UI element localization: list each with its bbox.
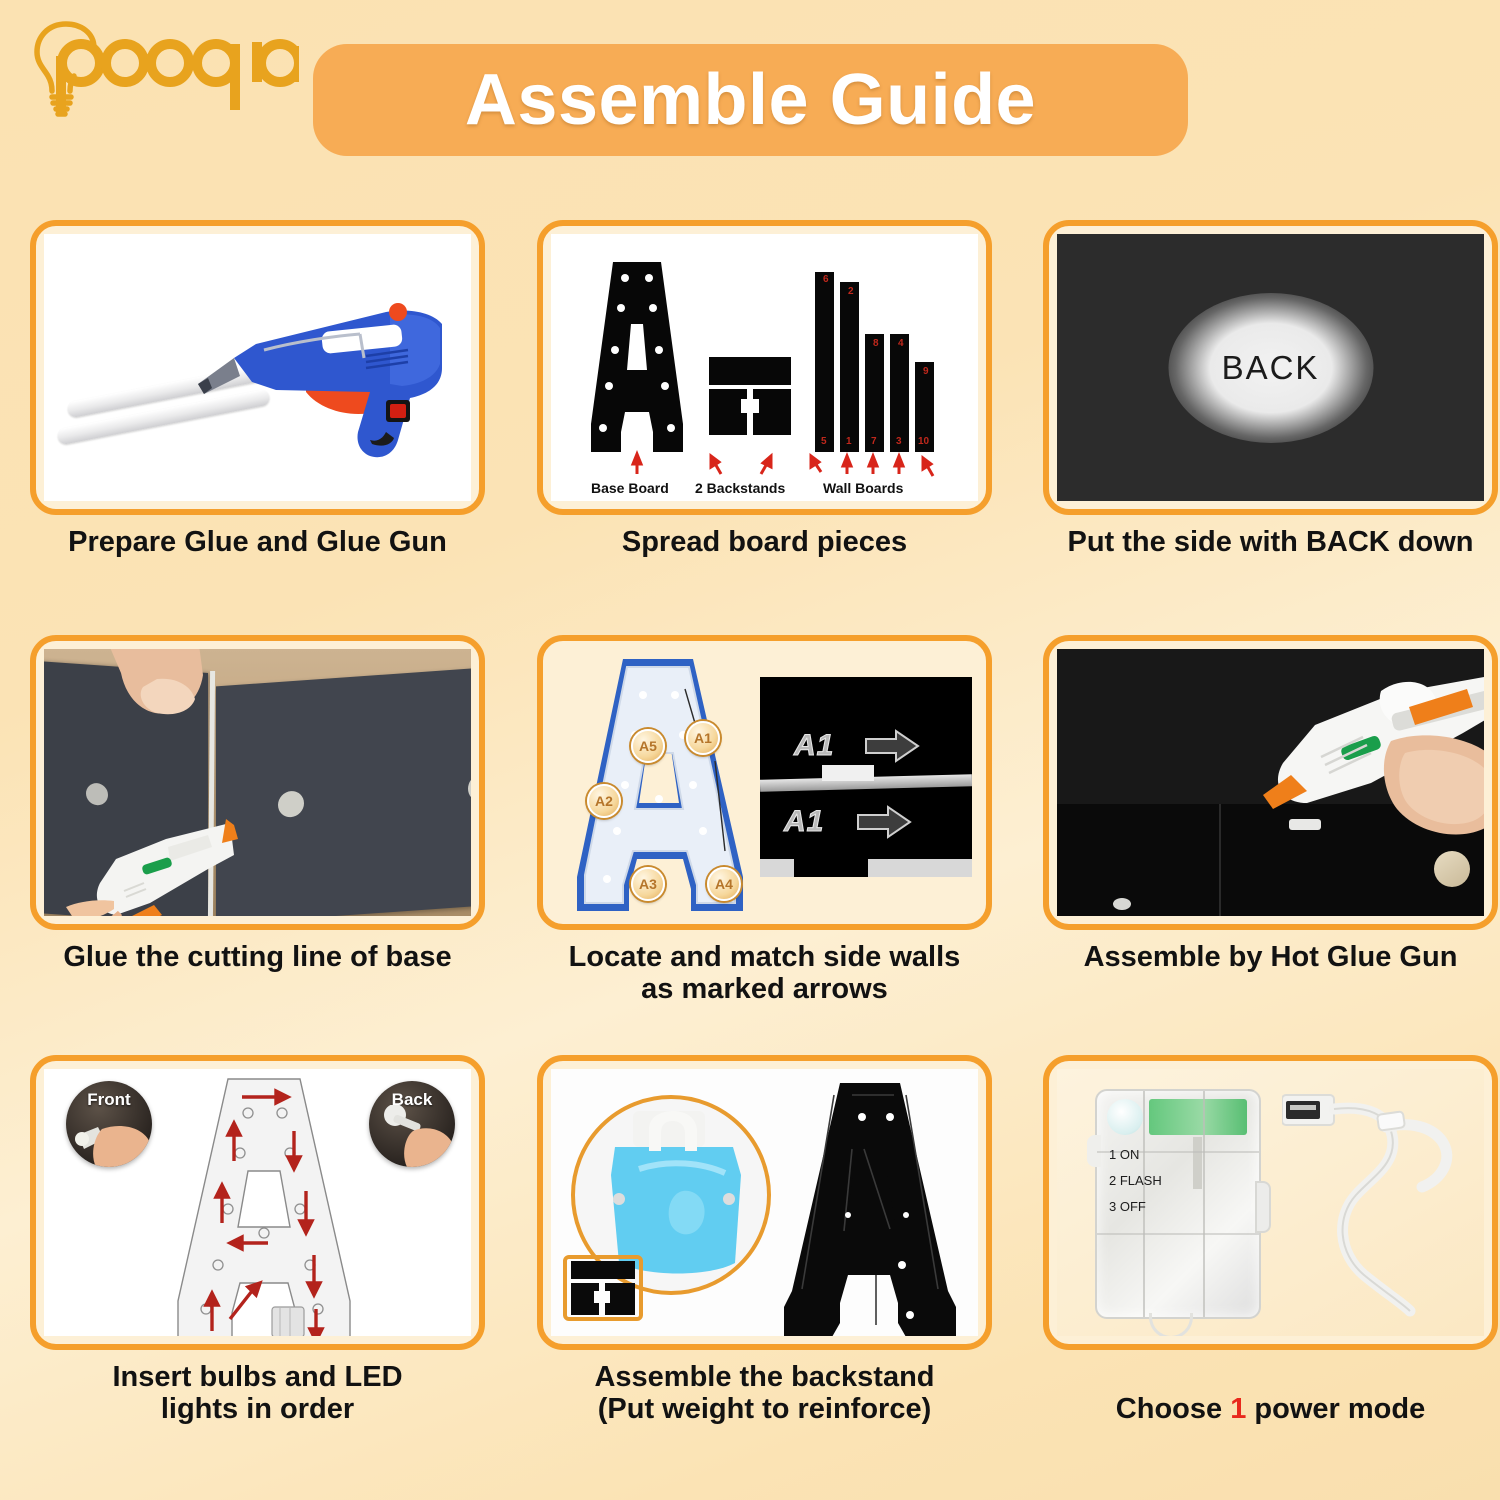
step-3-caption: Put the side with BACK down: [1043, 526, 1498, 558]
step-4-image: [44, 649, 471, 916]
steps-grid: Prepare Glue and Glue Gun: [0, 198, 1500, 1498]
power-mode-1: 1 ON: [1109, 1147, 1139, 1162]
step-9-caption-suffix: power mode: [1246, 1393, 1425, 1425]
step-3-image: BACK: [1057, 234, 1484, 501]
step-card-1: Prepare Glue and Glue Gun: [30, 220, 485, 558]
step-8-caption: Assemble the backstand (Put weight to re…: [537, 1361, 992, 1426]
page-header: Assemble Guide: [0, 0, 1500, 200]
letter-a-outline: [164, 1075, 364, 1336]
step-5-caption: Locate and match side walls as marked ar…: [537, 941, 992, 1006]
step-8-image-frame: [537, 1055, 992, 1350]
front-detail-bubble: Front: [66, 1081, 152, 1167]
battery-contact: [1193, 1137, 1202, 1189]
bulb-cap: [1434, 851, 1470, 887]
step-2-image-frame: 6 2 8 4 9 5 1 7 3 10: [537, 220, 992, 515]
step-6-caption: Assemble by Hot Glue Gun: [1043, 941, 1498, 973]
step-card-8: Assemble the backstand (Put weight to re…: [537, 1055, 992, 1426]
step-5-image-frame: A5 A1 A2 A3 A4 A1 A1: [537, 635, 992, 930]
marker-a3: A3: [631, 867, 665, 901]
glue-gun-blue: [194, 272, 471, 462]
step-7-caption: Insert bulbs and LED lights in order: [30, 1361, 485, 1426]
circuit-board: [1149, 1099, 1247, 1135]
glue-bead: [1289, 819, 1321, 830]
step-4-image-frame: [30, 635, 485, 930]
bulb-cap: [1113, 898, 1131, 910]
step-4-caption: Glue the cutting line of base: [30, 941, 485, 973]
backstands-label: 2 Backstands: [695, 480, 785, 496]
step-9-caption-prefix: Choose: [1116, 1393, 1230, 1425]
backstand-icon: [571, 1261, 635, 1315]
arrow-right-icon: [864, 729, 920, 763]
step-1-image-frame: [30, 220, 485, 515]
step-card-9: 1 ON 2 FLASH 3 OFF: [1043, 1055, 1498, 1426]
step-3-image-frame: BACK: [1043, 220, 1498, 515]
step-2-image: 6 2 8 4 9 5 1 7 3 10: [551, 234, 978, 501]
usb-cable: [1282, 1091, 1462, 1321]
assembled-backstand: [778, 1079, 968, 1336]
white-glue-gun: [58, 817, 238, 916]
step-card-5: A5 A1 A2 A3 A4 A1 A1: [537, 635, 992, 1006]
arrow-right-icon: [856, 805, 912, 839]
bulb-hole: [278, 790, 304, 818]
pointer-arrows: [551, 234, 978, 501]
step-card-4: Glue the cutting line of base: [30, 635, 485, 973]
step-9-image: 1 ON 2 FLASH 3 OFF: [1057, 1069, 1484, 1336]
marker-a2: A2: [587, 784, 621, 818]
step-card-6: Assemble by Hot Glue Gun: [1043, 635, 1498, 973]
back-detail-bubble: Back: [369, 1081, 455, 1167]
battery-latch: [1255, 1181, 1271, 1233]
bulb-hole: [86, 782, 108, 806]
marker-a1: A1: [686, 721, 720, 755]
hand-thumb: [99, 649, 219, 735]
step-6-image-frame: [1043, 635, 1498, 930]
arrow-match-inset: A1 A1: [760, 677, 972, 877]
tab-notch: [822, 765, 874, 781]
marker-a5: A5: [631, 729, 665, 763]
page-title: Assemble Guide: [465, 59, 1036, 141]
base-board-right: [216, 668, 471, 916]
back-marking-text: BACK: [1222, 349, 1320, 387]
hanging-loop: [1149, 1313, 1193, 1336]
power-mode-3: 3 OFF: [1109, 1199, 1146, 1214]
power-mode-2: 2 FLASH: [1109, 1173, 1162, 1188]
step-9-caption: Choose 1 power mode: [1043, 1361, 1498, 1426]
step-card-3: BACK Put the side with BACK down: [1043, 220, 1498, 558]
step-2-caption: Spread board pieces: [537, 526, 992, 558]
bottom-tab: [794, 847, 868, 877]
back-marking-glow: BACK: [1168, 293, 1373, 443]
base-board-label: Base Board: [591, 480, 669, 496]
white-glue-gun: [1195, 667, 1484, 847]
brand-logo: [24, 18, 299, 123]
step-7-image-frame: Front Back: [30, 1055, 485, 1350]
lightbulb-icon: [24, 18, 299, 123]
step-7-image: Front Back: [44, 1069, 471, 1336]
step-9-image-frame: 1 ON 2 FLASH 3 OFF: [1043, 1055, 1498, 1350]
wall-boards-label: Wall Boards: [823, 480, 903, 496]
step-9-caption-highlight: 1: [1230, 1393, 1246, 1425]
power-button: [1107, 1099, 1143, 1135]
inset-tag-a1-top: A1: [794, 729, 834, 763]
step-1-caption: Prepare Glue and Glue Gun: [30, 526, 485, 558]
step-8-image: [551, 1069, 978, 1336]
front-label: Front: [87, 1090, 130, 1110]
step-5-image: A5 A1 A2 A3 A4 A1 A1: [551, 649, 978, 916]
inset-tag-a1-bottom: A1: [784, 805, 824, 839]
step-card-7: Front Back: [30, 1055, 485, 1426]
battery-box: 1 ON 2 FLASH 3 OFF: [1095, 1089, 1261, 1319]
step-1-image: [44, 234, 471, 501]
marker-a4: A4: [707, 867, 741, 901]
bulb-hole: [468, 775, 471, 800]
page-title-banner: Assemble Guide: [313, 44, 1188, 156]
step-card-2: 6 2 8 4 9 5 1 7 3 10: [537, 220, 992, 558]
step-6-image: [1057, 649, 1484, 916]
